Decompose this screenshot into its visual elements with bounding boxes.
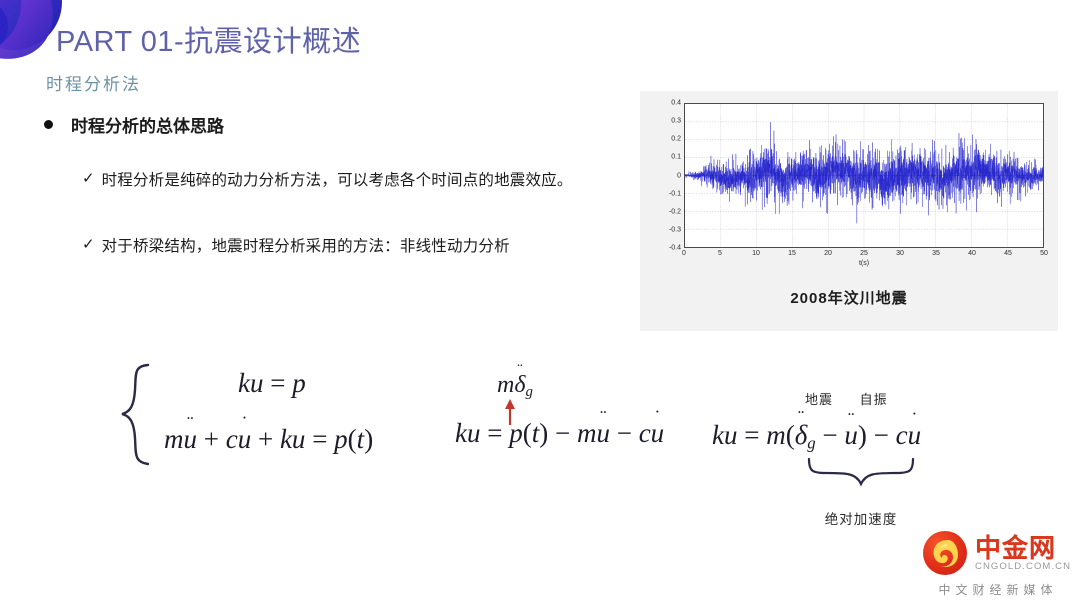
equation-term-labels: 地震 自振 xyxy=(805,389,910,408)
chart-plot-area: Ground Acceleration(g) 0.4 0.3 0.2 0.1 0… xyxy=(684,103,1044,248)
chart-figure: Ground Acceleration(g) 0.4 0.3 0.2 0.1 0… xyxy=(654,99,1046,274)
equation-ku-equals-p: ku = p xyxy=(238,368,306,399)
chart-x-tick: 45 xyxy=(1004,250,1012,257)
list-item: ✓ 时程分析是纯碎的动力分析方法，可以考虑各个时间点的地震效应。 xyxy=(82,168,573,190)
logo-name-cn: 中金网 xyxy=(975,535,1071,561)
chart-x-tick: 35 xyxy=(932,250,940,257)
bullet-heading-label: 时程分析的总体思路 xyxy=(71,112,224,137)
bullet-dot-icon xyxy=(44,120,53,129)
swirl-glyph-icon xyxy=(923,531,967,575)
chart-y-tick: 0.4 xyxy=(671,100,681,107)
chart-x-tick: 25 xyxy=(860,250,868,257)
chart-x-tick: 5 xyxy=(718,250,722,257)
underbrace-icon xyxy=(806,457,916,487)
check-icon: ✓ xyxy=(82,237,95,252)
list-item: ✓ 对于桥梁结构，地震时程分析采用的方法：非线性动力分析 xyxy=(82,234,510,256)
label-earthquake: 地震 xyxy=(805,392,833,407)
chart-x-tick: 30 xyxy=(896,250,904,257)
chart-y-tick: -0.2 xyxy=(669,208,681,215)
underbrace-label: 绝对加速度 xyxy=(806,508,916,528)
logo-tagline: 中文财经新媒体 xyxy=(923,581,1073,598)
chart-x-axis-label: t(s) xyxy=(859,260,869,267)
label-self-vibration: 自振 xyxy=(860,392,888,407)
page-title: PART 01-抗震设计概述 xyxy=(56,18,361,60)
equation-callout-mdeltag: mδ¨g xyxy=(497,372,533,401)
chart-image-card: Ground Acceleration(g) 0.4 0.3 0.2 0.1 0… xyxy=(640,91,1058,331)
slide-canvas: PART 01-抗震设计概述 时程分析法 时程分析的总体思路 ✓ 时程分析是纯碎… xyxy=(0,0,1080,608)
page-subtitle: 时程分析法 xyxy=(46,70,141,95)
chart-y-tick: -0.1 xyxy=(669,190,681,197)
logo-text: 中金网 CNGOLD.COM.CN xyxy=(975,535,1071,572)
chart-series-acceleration xyxy=(685,104,1043,247)
chart-y-tick: -0.3 xyxy=(669,226,681,233)
cngold-logo-icon xyxy=(923,531,967,575)
chart-y-tick: 0.3 xyxy=(671,118,681,125)
chart-y-tick: 0.2 xyxy=(671,136,681,143)
chart-x-tick: 40 xyxy=(968,250,976,257)
chart-y-tick: 0.1 xyxy=(671,154,681,161)
equation-absolute-form: ku = m(δ¨g − u¨) − cu˙ xyxy=(712,420,921,454)
chart-y-tick: 0 xyxy=(677,172,681,179)
bullet-heading: 时程分析的总体思路 xyxy=(44,112,224,137)
equation-group-1: ku = p mu¨ + cu˙ + ku = p(t) xyxy=(118,362,448,470)
left-brace-icon xyxy=(118,362,154,467)
chart-x-tick: 10 xyxy=(752,250,760,257)
chart-y-tick: -0.4 xyxy=(669,245,681,252)
equation-dynamic-eom: mu¨ + cu˙ + ku = p(t) xyxy=(164,424,373,455)
chart-frame xyxy=(684,103,1044,248)
chart-x-tick: 0 xyxy=(682,250,686,257)
chart-x-tick: 20 xyxy=(824,250,832,257)
chart-caption: 2008年汶川地震 xyxy=(640,287,1058,308)
watermark-logo: 中金网 CNGOLD.COM.CN 中文财经新媒体 xyxy=(923,531,1073,601)
list-item-label: 对于桥梁结构，地震时程分析采用的方法：非线性动力分析 xyxy=(102,234,510,256)
logo-domain: CNGOLD.COM.CN xyxy=(975,562,1071,572)
logo-row: 中金网 CNGOLD.COM.CN xyxy=(923,531,1073,575)
check-icon: ✓ xyxy=(82,171,95,186)
equation-relative-form: ku = p(t) − mu¨ − cu˙ xyxy=(455,418,664,449)
list-item-label: 时程分析是纯碎的动力分析方法，可以考虑各个时间点的地震效应。 xyxy=(102,168,573,190)
chart-x-tick: 50 xyxy=(1040,250,1048,257)
chart-x-tick: 15 xyxy=(788,250,796,257)
